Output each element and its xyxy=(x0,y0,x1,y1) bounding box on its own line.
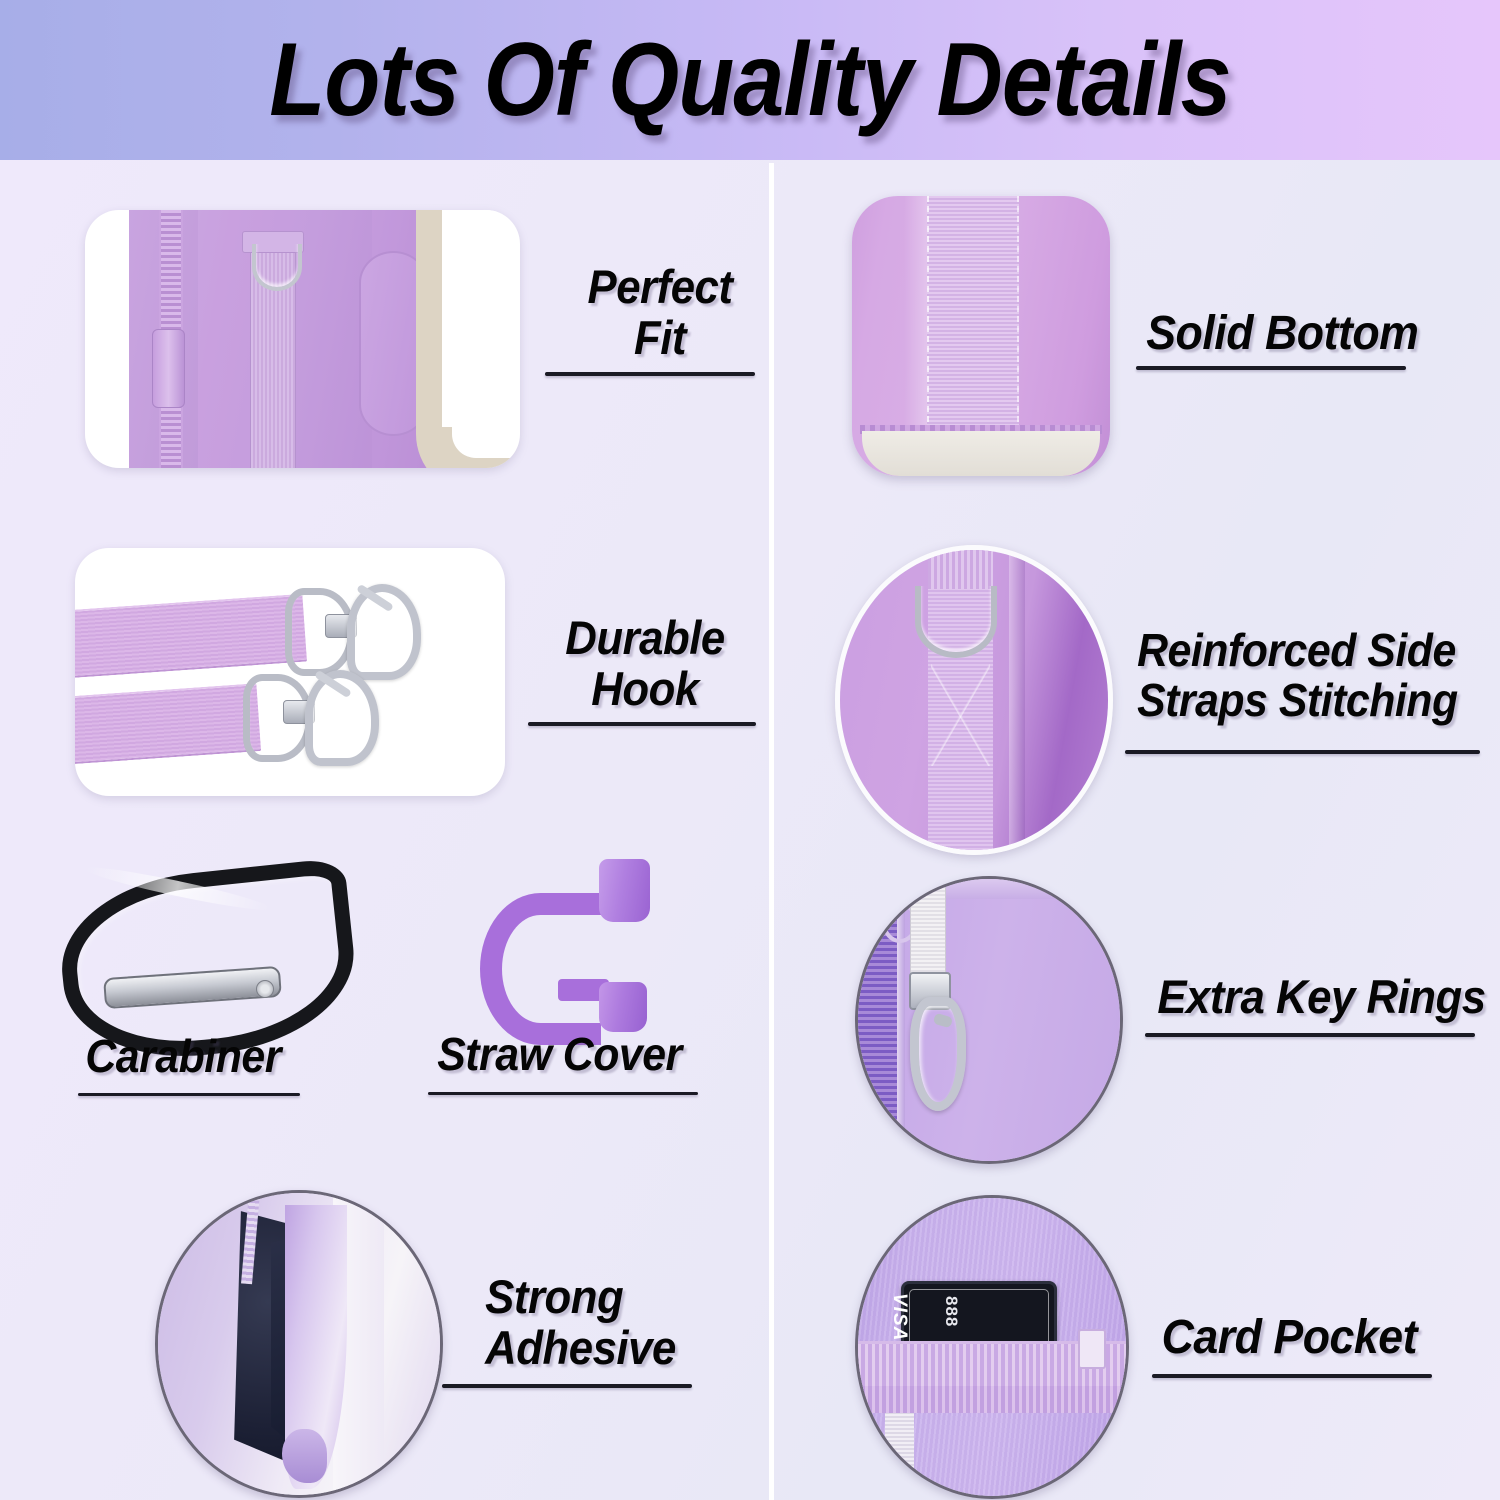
straw-cover-underline xyxy=(428,1092,698,1095)
bag-edge-shadow xyxy=(1009,550,1025,850)
perfect-fit-label: Perfect Fit xyxy=(548,262,771,364)
reinforced-straps-photo xyxy=(835,545,1113,855)
extra-key-rings-photo xyxy=(855,876,1123,1164)
solid-bottom-underline xyxy=(1136,366,1406,370)
handle-inner-gap xyxy=(442,210,503,427)
strap-webbing-lower xyxy=(75,683,261,765)
key-ring-webbing-tab xyxy=(910,885,946,978)
strap-webbing-upper xyxy=(75,594,307,679)
straw-cover-cap-bottom xyxy=(599,982,647,1033)
strap-fold-top xyxy=(928,550,992,589)
solid-bottom-label: Solid Bottom xyxy=(1146,308,1418,360)
reinforced-straps-underline xyxy=(1125,750,1480,754)
strong-adhesive-underline xyxy=(442,1384,692,1388)
lobster-clasp-group xyxy=(905,997,952,1093)
card-pocket-underline xyxy=(1152,1374,1432,1378)
straw-cover-photo xyxy=(480,868,650,1026)
carabiner-label: Carabiner xyxy=(85,1032,281,1082)
carabiner-photo xyxy=(62,872,324,1024)
pocket-zipper-lower xyxy=(858,1386,1126,1413)
header-banner: Lots Of Quality Details xyxy=(0,0,1500,160)
solid-base-plate xyxy=(862,431,1099,476)
card-pocket-label: Card Pocket xyxy=(1162,1312,1417,1364)
extra-key-rings-underline xyxy=(1145,1033,1475,1037)
flap-curl xyxy=(282,1429,327,1483)
zipper-pull-icon xyxy=(152,329,184,408)
durable-hook-photo xyxy=(75,548,505,796)
strong-adhesive-label: Strong Adhesive xyxy=(485,1272,676,1374)
page-title: Lots Of Quality Details xyxy=(90,0,1410,160)
solid-bottom-photo xyxy=(852,196,1110,476)
carabiner-screw xyxy=(256,980,274,998)
perfect-fit-underline xyxy=(545,372,755,376)
card-digits: 888 xyxy=(941,1296,961,1327)
d-ring-icon xyxy=(915,586,997,658)
infographic-page: Lots Of Quality Details Perfect Fit xyxy=(0,0,1500,1500)
zipper-pull-icon xyxy=(1078,1329,1106,1369)
snap-hook-upper xyxy=(285,582,405,670)
straw-cover-cap-top xyxy=(599,859,650,922)
snap-hook-lower xyxy=(243,668,363,756)
side-webbing-strap xyxy=(885,1413,914,1496)
extra-key-rings-label: Extra Key Rings xyxy=(1157,972,1485,1023)
column-divider xyxy=(769,163,774,1500)
visa-logo: VISA xyxy=(888,1293,910,1341)
bottom-webbing-strap xyxy=(927,196,1019,442)
card-pocket-photo: VISA 888 xyxy=(855,1195,1129,1499)
strong-adhesive-photo xyxy=(155,1190,443,1498)
reinforced-straps-label: Reinforced Side Straps Stitching xyxy=(1137,626,1458,725)
perfect-fit-photo xyxy=(85,210,520,468)
straw-cover-arc xyxy=(480,893,601,1044)
straw-cover-label: Straw Cover xyxy=(437,1030,682,1080)
reinforced-box-x-stitching xyxy=(931,664,990,766)
durable-hook-underline xyxy=(528,722,756,726)
durable-hook-label: Durable Hook xyxy=(529,613,762,715)
carabiner-underline xyxy=(78,1093,300,1096)
